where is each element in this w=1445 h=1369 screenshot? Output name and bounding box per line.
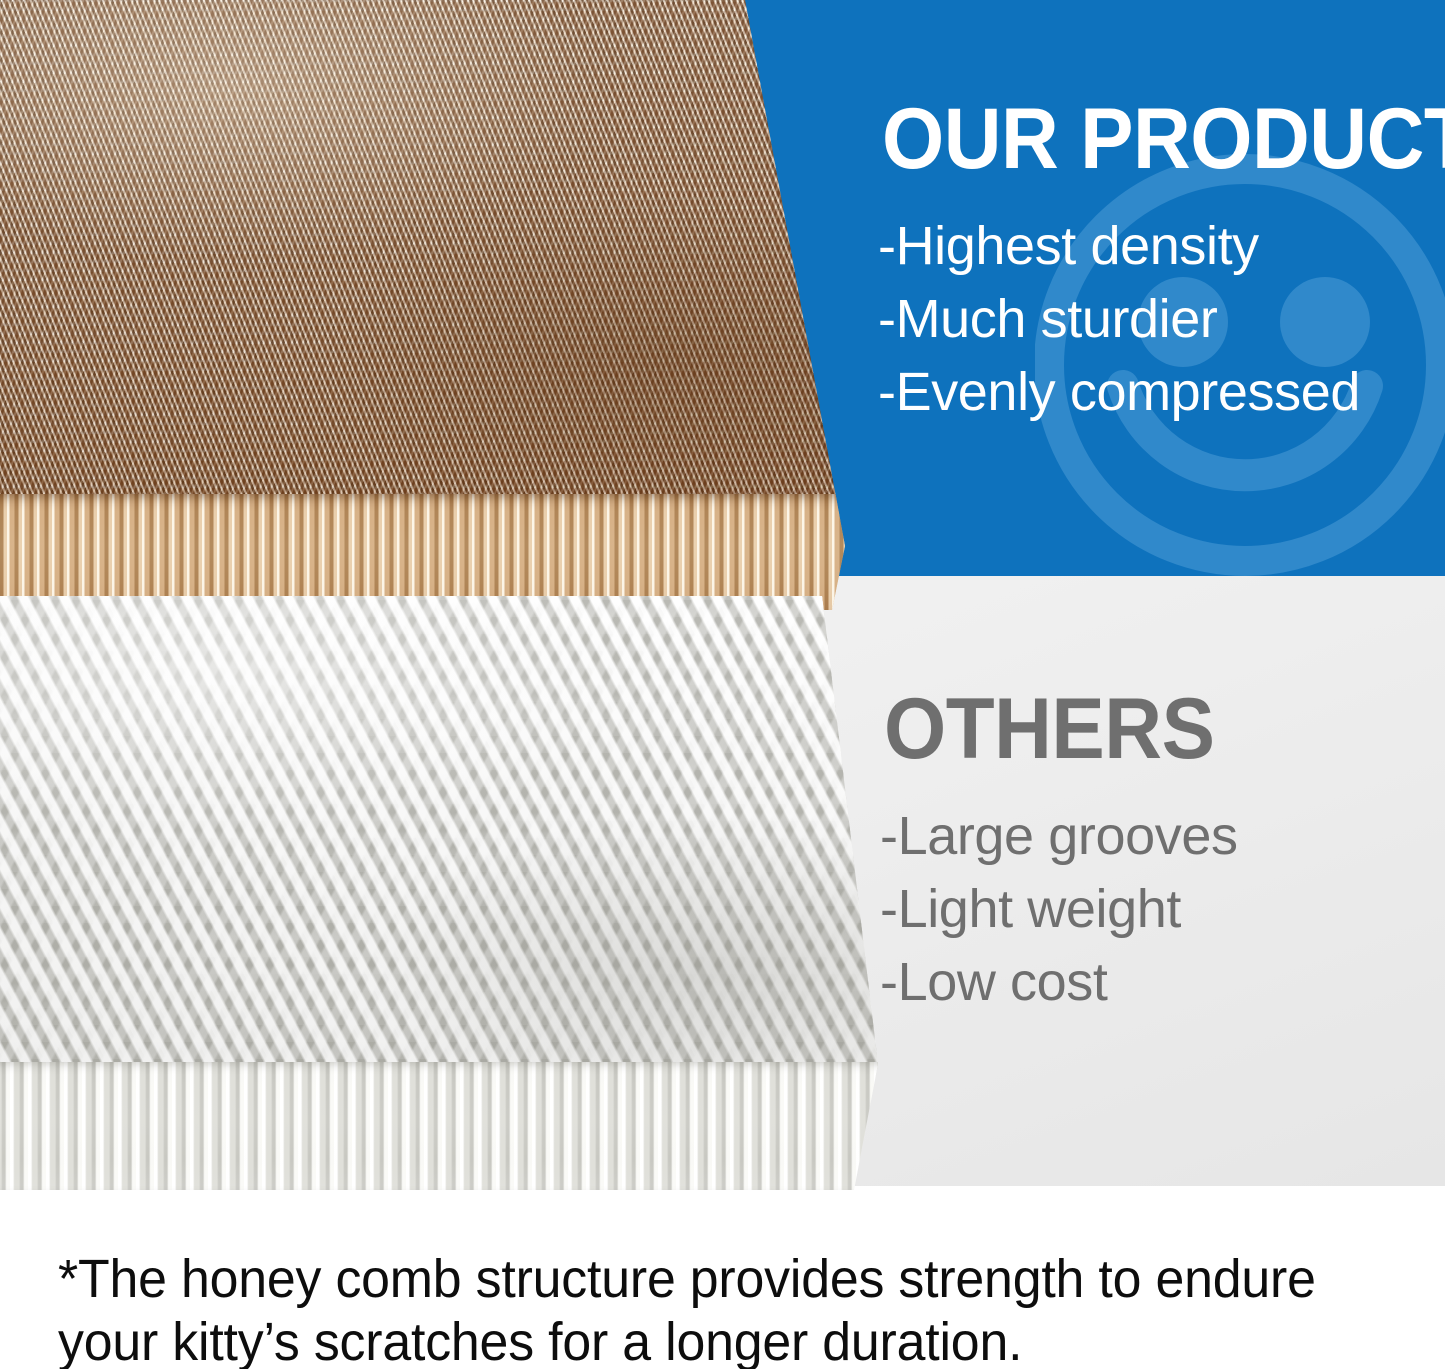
footnote-text: *The honey comb structure provides stren… — [58, 1248, 1354, 1369]
comparison-infographic: OUR PRODUCT -Highest density -Much sturd… — [0, 0, 1445, 1369]
white-honeycomb-cardboard-photo — [0, 596, 894, 1190]
white-board-edge — [0, 1062, 894, 1190]
our-product-bullet-list: -Highest density -Much sturdier -Evenly … — [878, 210, 1360, 429]
others-heading: OTHERS — [884, 686, 1214, 772]
others-bullet-3: -Low cost — [880, 946, 1238, 1019]
white-honeycomb-surface — [0, 596, 894, 1076]
brown-honeycomb-surface — [0, 0, 854, 506]
others-bullet-2: -Light weight — [880, 873, 1238, 946]
our-product-heading: OUR PRODUCT — [882, 96, 1445, 182]
our-product-bullet-2: -Much sturdier — [878, 283, 1360, 356]
brown-board-edge — [0, 494, 854, 610]
our-product-bullet-1: -Highest density — [878, 210, 1360, 283]
brown-honeycomb-cardboard-photo — [0, 0, 854, 610]
our-product-bullet-3: -Evenly compressed — [878, 356, 1360, 429]
others-bullet-1: -Large grooves — [880, 800, 1238, 873]
others-bullet-list: -Large grooves -Light weight -Low cost — [880, 800, 1238, 1019]
